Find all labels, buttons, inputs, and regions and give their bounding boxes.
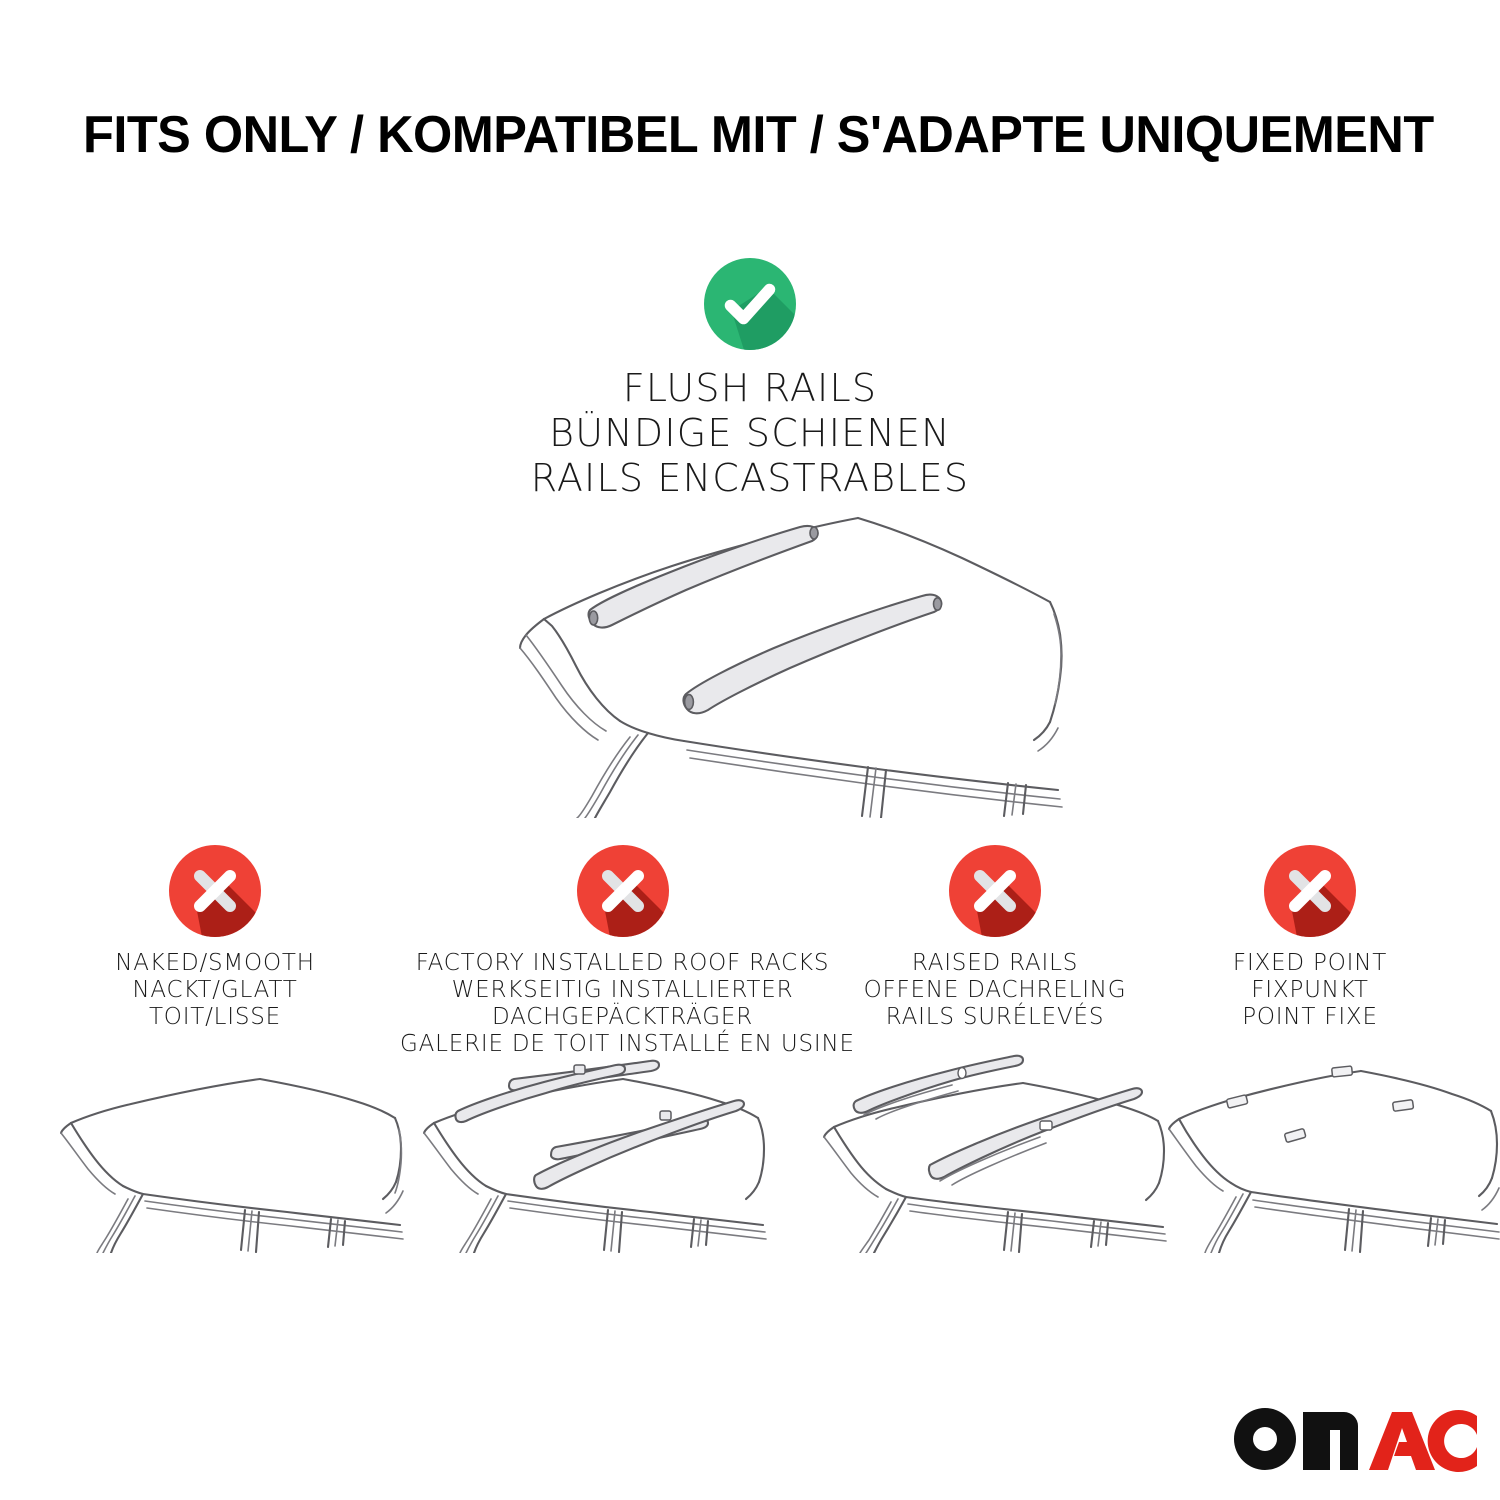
compatible-block: FLUSH RAILS BÜNDIGE SCHIENEN RAILS ENCAS… bbox=[250, 258, 1250, 500]
incompatible-label-de-2: DACHGEPÄCKTRÄGER bbox=[400, 1004, 845, 1031]
compatible-label-en: FLUSH RAILS bbox=[250, 366, 1250, 411]
incompatible-labels: FACTORY INSTALLED ROOF RACKS WERKSEITIG … bbox=[400, 950, 845, 1058]
page-title: FITS ONLY / KOMPATIBEL MIT / S'ADAPTE UN… bbox=[83, 108, 1383, 163]
incompatible-label-fr: POINT FIXE bbox=[1160, 1004, 1460, 1031]
incompatible-label-de: FIXPUNKT bbox=[1160, 977, 1460, 1004]
incompatible-label-de-1: WERKSEITIG INSTALLIERTER bbox=[400, 977, 845, 1004]
car-roof-fixed-point-illustration bbox=[1165, 1043, 1500, 1253]
car-roof-naked-illustration bbox=[55, 1043, 405, 1253]
x-circle-icon bbox=[949, 845, 1041, 937]
incompatible-item-factory-roof-racks: FACTORY INSTALLED ROOF RACKS WERKSEITIG … bbox=[400, 845, 845, 1058]
car-roof-raised-rails-illustration bbox=[818, 1043, 1168, 1253]
incompatible-label-de: OFFENE DACHRELING bbox=[840, 977, 1150, 1004]
incompatible-label-fr: RAILS SURÉLEVÉS bbox=[840, 1004, 1150, 1031]
incompatible-item-naked-smooth: NAKED/SMOOTH NACKT/GLATT TOIT/LISSE bbox=[40, 845, 390, 1031]
incompatible-labels: FIXED POINT FIXPUNKT POINT FIXE bbox=[1160, 950, 1460, 1031]
check-circle-icon bbox=[704, 258, 796, 350]
car-roof-flush-rails-illustration bbox=[440, 478, 1090, 818]
incompatible-labels: NAKED/SMOOTH NACKT/GLATT TOIT/LISSE bbox=[40, 950, 390, 1031]
x-circle-icon bbox=[577, 845, 669, 937]
compatible-label-de: BÜNDIGE SCHIENEN bbox=[250, 411, 1250, 456]
x-circle-icon bbox=[1264, 845, 1356, 937]
incompatible-row: NAKED/SMOOTH NACKT/GLATT TOIT/LISSE bbox=[0, 845, 1500, 1275]
incompatible-label-en: RAISED RAILS bbox=[840, 950, 1150, 977]
incompatible-label-en: NAKED/SMOOTH bbox=[40, 950, 390, 977]
incompatible-label-de: NACKT/GLATT bbox=[40, 977, 390, 1004]
car-roof-factory-racks-illustration bbox=[418, 1043, 768, 1253]
incompatible-item-fixed-point: FIXED POINT FIXPUNKT POINT FIXE bbox=[1160, 845, 1460, 1031]
infographic-page: FITS ONLY / KOMPATIBEL MIT / S'ADAPTE UN… bbox=[0, 0, 1500, 1500]
incompatible-label-en: FACTORY INSTALLED ROOF RACKS bbox=[400, 950, 845, 977]
incompatible-label-fr: TOIT/LISSE bbox=[40, 1004, 390, 1031]
incompatible-item-raised-rails: RAISED RAILS OFFENE DACHRELING RAILS SUR… bbox=[840, 845, 1150, 1031]
x-circle-icon bbox=[169, 845, 261, 937]
omac-logo bbox=[1232, 1404, 1477, 1478]
incompatible-label-en: FIXED POINT bbox=[1160, 950, 1460, 977]
incompatible-labels: RAISED RAILS OFFENE DACHRELING RAILS SUR… bbox=[840, 950, 1150, 1031]
